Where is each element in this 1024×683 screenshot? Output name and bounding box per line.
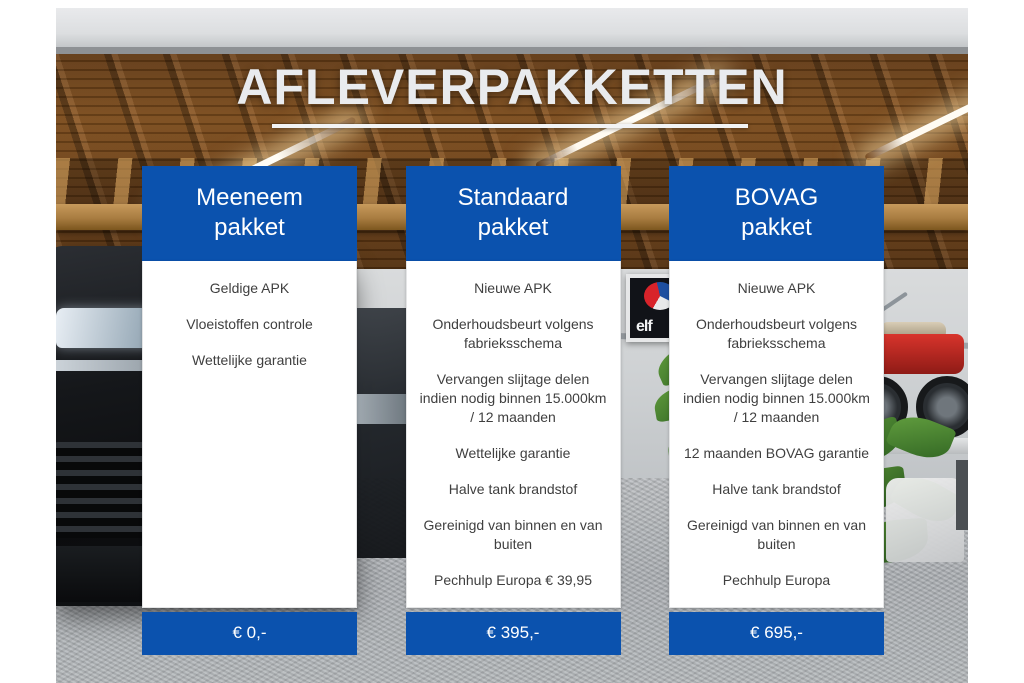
slide-canvas: elf AFLEVERPAKKETTEN — [0, 0, 1024, 683]
feature-item: Vloeistoffen controle — [186, 315, 313, 334]
feature-item: Nieuwe APK — [738, 279, 816, 298]
feature-item: Halve tank brandstof — [712, 480, 840, 499]
card-price[interactable]: € 0,- — [142, 612, 357, 655]
card-price[interactable]: € 695,- — [669, 612, 884, 655]
ceiling-soffit — [56, 8, 968, 54]
card-title-line2: pakket — [412, 213, 615, 243]
floor-lamp — [956, 460, 968, 530]
card-feature-list: Nieuwe APK Onderhoudsbeurt volgens fabri… — [669, 261, 884, 608]
feature-item: Nieuwe APK — [474, 279, 552, 298]
title-divider — [272, 124, 748, 128]
feature-item: Wettelijke garantie — [192, 351, 307, 370]
card-title-line1: Standaard — [412, 183, 615, 213]
pricing-card-bovag: BOVAG pakket Nieuwe APK Onderhoudsbeurt … — [669, 166, 884, 655]
feature-item: Onderhoudsbeurt volgens fabrieksschema — [682, 315, 871, 353]
feature-item: Geldige APK — [210, 279, 289, 298]
feature-item: 12 maanden BOVAG garantie — [684, 444, 869, 463]
feature-item: Vervangen slijtage delen indien nodig bi… — [419, 370, 608, 427]
card-feature-list: Nieuwe APK Onderhoudsbeurt volgens fabri… — [406, 261, 621, 608]
card-header: Standaard pakket — [406, 166, 621, 261]
card-title-line2: pakket — [148, 213, 351, 243]
page-title: AFLEVERPAKKETTEN — [0, 58, 1024, 116]
card-title-line2: pakket — [675, 213, 878, 243]
feature-item: Pechhulp Europa — [723, 571, 830, 590]
feature-item: Pechhulp Europa € 39,95 — [434, 571, 592, 590]
feature-item: Wettelijke garantie — [456, 444, 571, 463]
card-feature-list: Geldige APK Vloeistoffen controle Wettel… — [142, 261, 357, 608]
card-header: Meeneem pakket — [142, 166, 357, 261]
card-price[interactable]: € 395,- — [406, 612, 621, 655]
feature-item: Gereinigd van binnen en van buiten — [682, 516, 871, 554]
card-header: BOVAG pakket — [669, 166, 884, 261]
card-title-line1: Meeneem — [148, 183, 351, 213]
feature-item: Vervangen slijtage delen indien nodig bi… — [682, 370, 871, 427]
pricing-card-standaard: Standaard pakket Nieuwe APK Onderhoudsbe… — [406, 166, 621, 655]
feature-item: Halve tank brandstof — [449, 480, 577, 499]
feature-item: Onderhoudsbeurt volgens fabrieksschema — [419, 315, 608, 353]
card-title-line1: BOVAG — [675, 183, 878, 213]
lounge-chair — [886, 478, 964, 562]
pricing-card-meeneem: Meeneem pakket Geldige APK Vloeistoffen … — [142, 166, 357, 655]
pricing-cards: Meeneem pakket Geldige APK Vloeistoffen … — [142, 166, 884, 655]
feature-item: Gereinigd van binnen en van buiten — [419, 516, 608, 554]
